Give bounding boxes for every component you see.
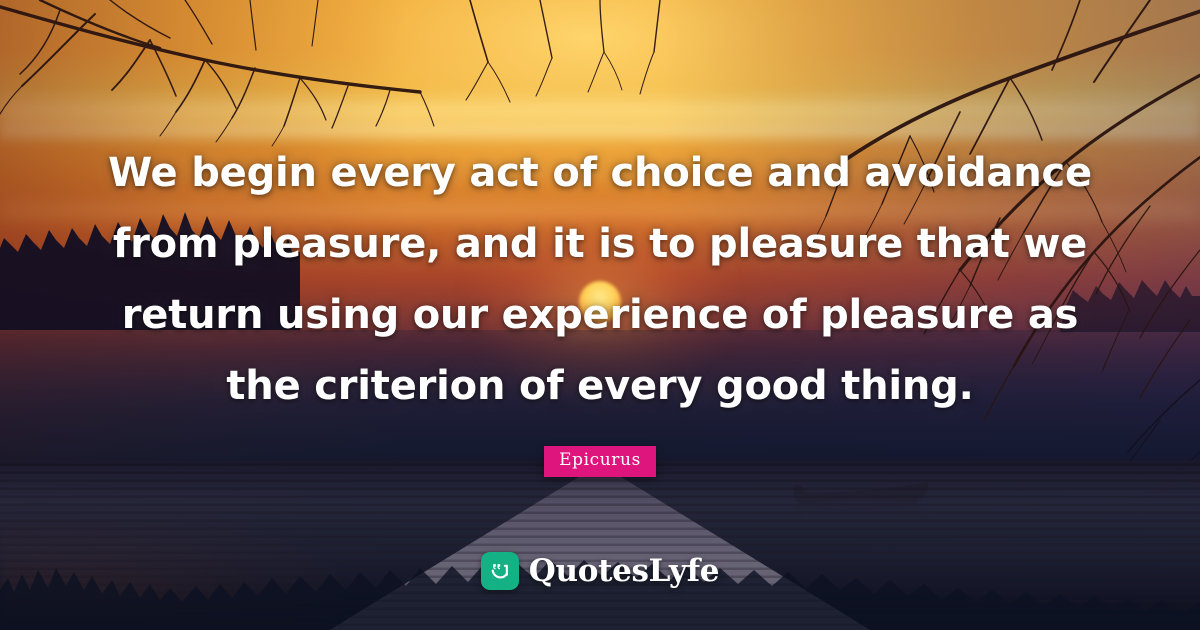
quote-text: We begin every act of choice and avoidan… <box>100 138 1100 477</box>
quote-line-2: from pleasure, and it is to pleasure tha… <box>100 209 1100 280</box>
quote-content: We begin every act of choice and avoidan… <box>0 0 1200 630</box>
quote-line-4: the criterion of every good thing. <box>100 351 1100 422</box>
quote-line-3: return using our experience of pleasure … <box>100 280 1100 351</box>
author-badge[interactable]: Epicurus <box>544 446 656 477</box>
quote-smiley-icon <box>481 552 519 590</box>
brand-logo[interactable]: QuotesLyfe <box>0 552 1200 590</box>
quote-card: We begin every act of choice and avoidan… <box>0 0 1200 630</box>
quote-line-1: We begin every act of choice and avoidan… <box>100 138 1100 209</box>
brand-name: QuotesLyfe <box>529 553 719 589</box>
